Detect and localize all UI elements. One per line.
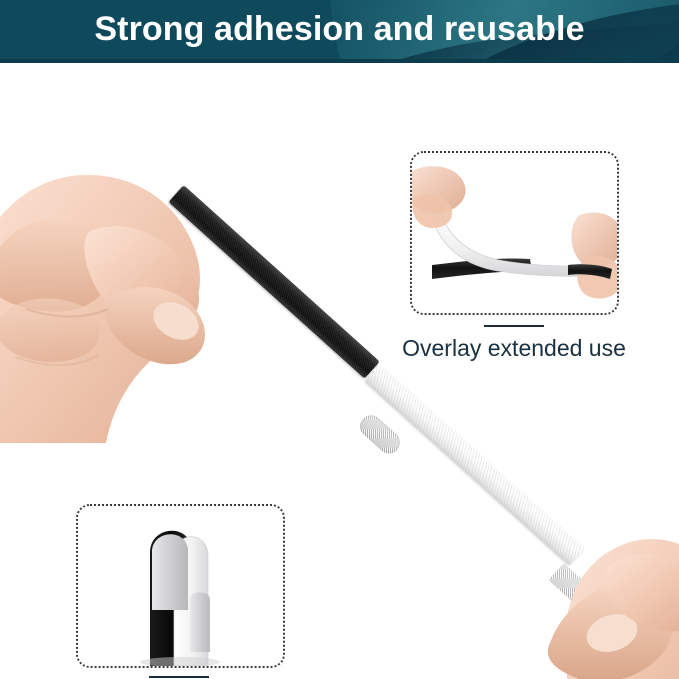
caption-rule bbox=[484, 325, 544, 327]
right-hand bbox=[520, 493, 679, 679]
inset-card-overlay bbox=[410, 151, 619, 315]
caption-overlay-text: Overlay extended use bbox=[385, 336, 643, 361]
left-hand bbox=[0, 113, 236, 443]
page-title: Strong adhesion and reusable bbox=[0, 0, 679, 59]
caption-overlay: Overlay extended use bbox=[385, 325, 643, 361]
inset-falloff-photo bbox=[78, 506, 283, 666]
header-banner: Strong adhesion and reusable bbox=[0, 0, 679, 63]
inset-card-falloff bbox=[76, 504, 285, 668]
inset-overlay-photo bbox=[412, 153, 617, 313]
caption-rule bbox=[149, 676, 209, 678]
product-photo-stage: Overlay extended use bbox=[0, 63, 679, 679]
strip-joint-pad-icon bbox=[356, 411, 405, 458]
